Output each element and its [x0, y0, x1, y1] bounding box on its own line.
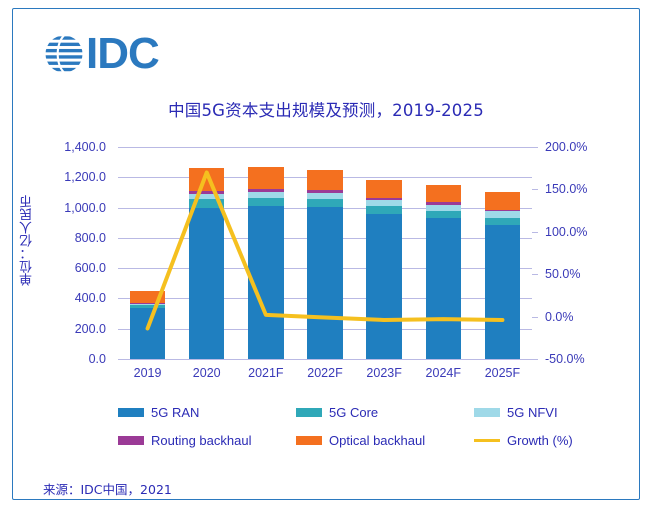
bar-segment[interactable]: [130, 308, 165, 359]
bar-segment[interactable]: [485, 210, 520, 212]
bar-segment[interactable]: [366, 214, 401, 359]
legend-item[interactable]: Optical backhaul: [296, 426, 425, 454]
bar-segment[interactable]: [485, 211, 520, 218]
legend-line-swatch-icon: [474, 439, 500, 442]
legend-color-swatch-icon: [296, 408, 322, 417]
bar-segment[interactable]: [366, 180, 401, 198]
bar-series-layer: [118, 147, 532, 359]
x-axis-tick-label: 2022F: [307, 366, 342, 380]
legend-item[interactable]: 5G NFVI: [474, 398, 558, 426]
bar-segment[interactable]: [307, 193, 342, 199]
legend-label: Growth (%): [507, 433, 573, 448]
bar-group[interactable]: [130, 147, 165, 359]
y-axis-right-tick-mark: [532, 274, 538, 275]
bar-segment[interactable]: [426, 211, 461, 218]
bar-segment[interactable]: [426, 218, 461, 359]
bar-segment[interactable]: [426, 202, 461, 204]
bar-segment[interactable]: [248, 192, 283, 197]
bar-segment[interactable]: [366, 200, 401, 206]
x-axis-tick-label: 2021F: [248, 366, 283, 380]
y-axis-left-tick-label: 0.0: [46, 352, 106, 366]
bar-segment[interactable]: [307, 199, 342, 207]
bar-segment[interactable]: [189, 199, 224, 208]
y-axis-left-tick-label: 1,400.0: [46, 140, 106, 154]
legend-label: 5G Core: [329, 405, 378, 420]
x-axis-tick-label: 2020: [193, 366, 221, 380]
bar-segment[interactable]: [366, 198, 401, 200]
y-axis-right-tick-label: 100.0%: [545, 225, 617, 239]
bar-segment[interactable]: [307, 170, 342, 190]
bar-segment[interactable]: [248, 167, 283, 190]
bar-segment[interactable]: [485, 192, 520, 209]
legend-label: 5G RAN: [151, 405, 199, 420]
bar-segment[interactable]: [485, 225, 520, 359]
chart-legend: 5G RAN5G Core5G NFVIRouting backhaulOpti…: [118, 398, 568, 454]
bar-group[interactable]: [248, 147, 283, 359]
bar-segment[interactable]: [307, 207, 342, 359]
legend-label: 5G NFVI: [507, 405, 558, 420]
y-axis-right-tick-mark: [532, 359, 538, 360]
bar-segment[interactable]: [248, 189, 283, 192]
legend-label: Optical backhaul: [329, 433, 425, 448]
y-axis-left-tick-label: 800.0: [46, 231, 106, 245]
bar-segment[interactable]: [426, 185, 461, 203]
legend-item[interactable]: 5G Core: [296, 398, 378, 426]
bar-group[interactable]: [426, 147, 461, 359]
y-axis-left-tick-label: 200.0: [46, 322, 106, 336]
bar-group[interactable]: [307, 147, 342, 359]
y-axis-left-tick-label: 1,200.0: [46, 170, 106, 184]
legend-row: 5G RAN5G Core5G NFVI: [118, 398, 568, 426]
x-axis-tick-label: 2024F: [426, 366, 461, 380]
bar-segment[interactable]: [130, 291, 165, 303]
x-axis-tick-label: 2025F: [485, 366, 520, 380]
bar-group[interactable]: [366, 147, 401, 359]
bar-segment[interactable]: [189, 194, 224, 199]
y-axis-right-tick-label: 0.0%: [545, 310, 617, 324]
y-axis-left-tick-label: 400.0: [46, 291, 106, 305]
y-axis-left-tick-label: 600.0: [46, 261, 106, 275]
gridline: [118, 359, 532, 360]
bar-segment[interactable]: [248, 206, 283, 359]
x-axis-tick-label: 2019: [134, 366, 162, 380]
legend-row: Routing backhaulOptical backhaulGrowth (…: [118, 426, 568, 454]
y-axis-title: 单位：亿人民币: [18, 195, 40, 286]
screenshot-root: IDC 中国5G资本支出规模及预测，2019-2025 来源：IDC中国，202…: [0, 0, 654, 511]
x-axis-tick-label: 2023F: [366, 366, 401, 380]
legend-color-swatch-icon: [118, 408, 144, 417]
legend-color-swatch-icon: [118, 436, 144, 445]
bar-segment[interactable]: [485, 218, 520, 225]
bar-group[interactable]: [485, 147, 520, 359]
bar-segment[interactable]: [130, 303, 165, 304]
legend-item[interactable]: Growth (%): [474, 426, 573, 454]
legend-item[interactable]: Routing backhaul: [118, 426, 251, 454]
y-axis-right-tick-label: 200.0%: [545, 140, 617, 154]
bar-segment[interactable]: [426, 205, 461, 211]
legend-label: Routing backhaul: [151, 433, 251, 448]
y-axis-right-tick-mark: [532, 189, 538, 190]
y-axis-left-ticks: 1,400.01,200.01,000.0800.0600.0400.0200.…: [46, 0, 106, 511]
bar-segment[interactable]: [130, 305, 165, 307]
bar-group[interactable]: [189, 147, 224, 359]
y-axis-left-tick-label: 1,000.0: [46, 201, 106, 215]
bar-segment[interactable]: [130, 304, 165, 306]
legend-color-swatch-icon: [474, 408, 500, 417]
y-axis-right-tick-mark: [532, 232, 538, 233]
legend-item[interactable]: 5G RAN: [118, 398, 199, 426]
bar-segment[interactable]: [248, 198, 283, 206]
bar-segment[interactable]: [366, 206, 401, 214]
bar-segment[interactable]: [189, 168, 224, 191]
bar-segment[interactable]: [307, 190, 342, 193]
bar-segment[interactable]: [189, 191, 224, 194]
bar-segment[interactable]: [189, 208, 224, 359]
y-axis-right-tick-label: 50.0%: [545, 267, 617, 281]
legend-color-swatch-icon: [296, 436, 322, 445]
y-axis-right-tick-label: -50.0%: [545, 352, 617, 366]
y-axis-right-tick-label: 150.0%: [545, 182, 617, 196]
y-axis-right-tick-mark: [532, 147, 538, 148]
y-axis-right-tick-mark: [532, 317, 538, 318]
